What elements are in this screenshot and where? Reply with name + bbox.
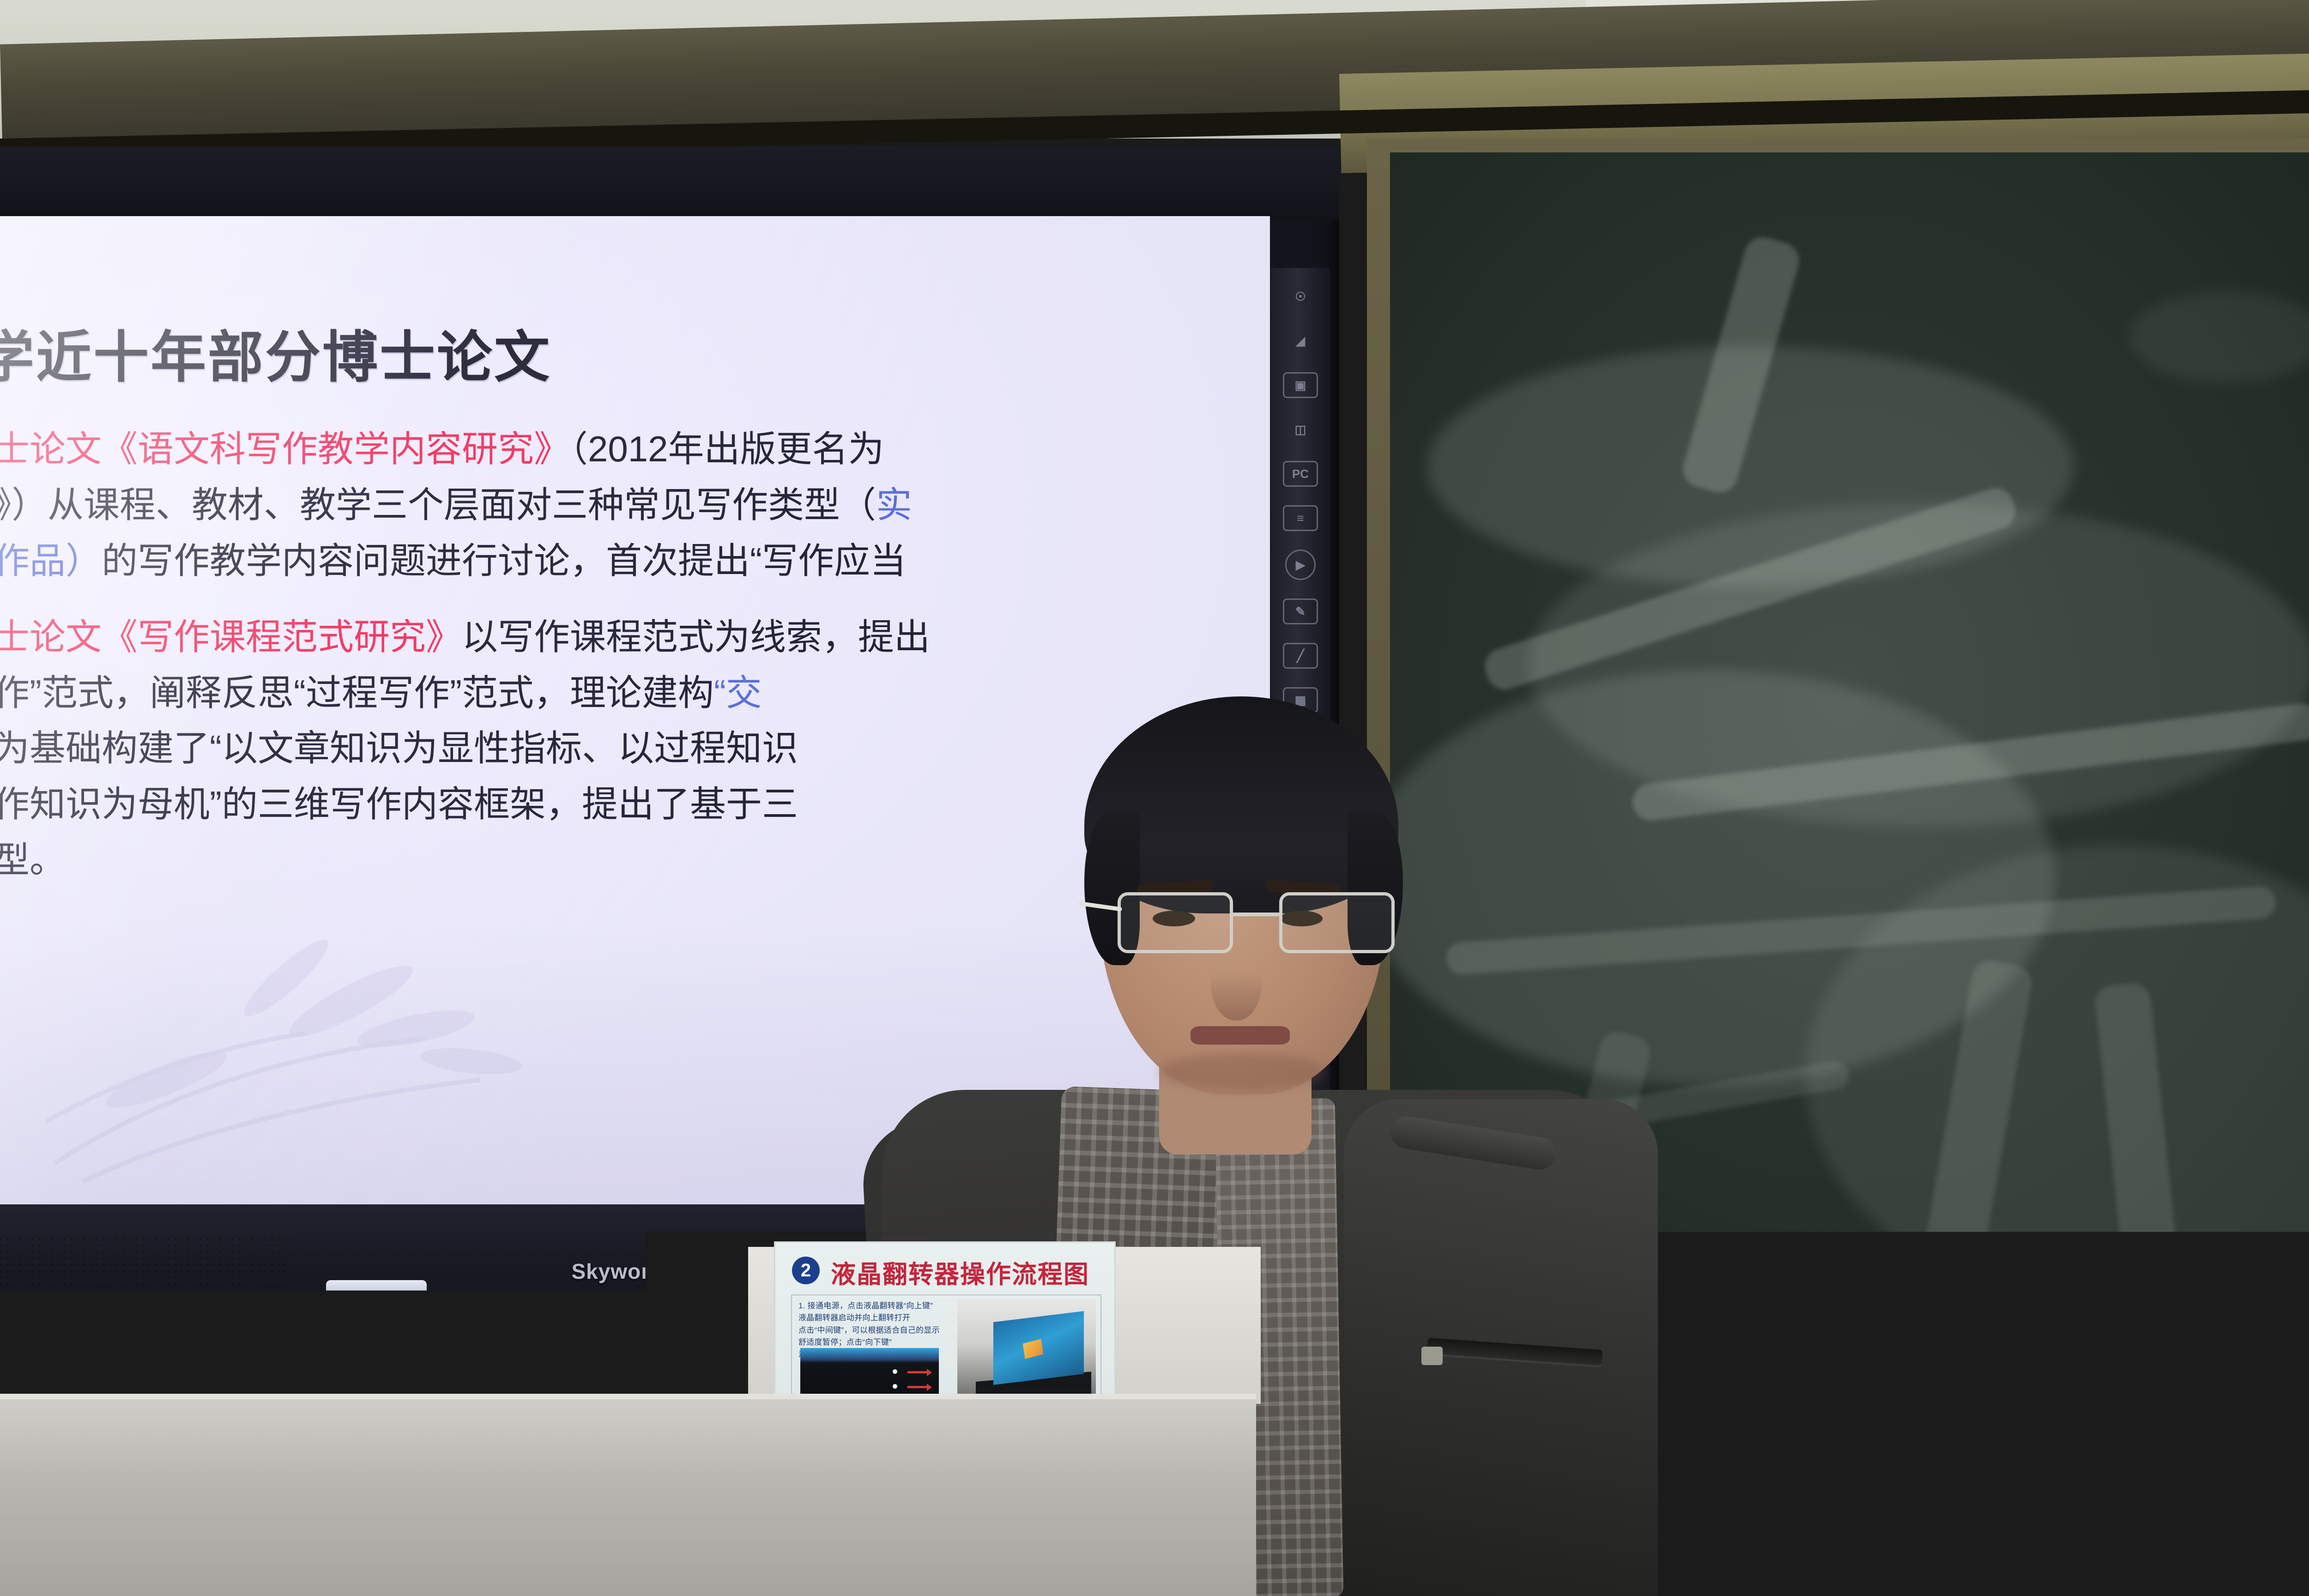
nose [1211,942,1262,1021]
slide-paragraph-1: 明博士论文《语文科写作教学内容研究》（2012年出版更名为 新论》）从课程、教材… [0,421,1242,589]
menu-icon[interactable]: ≡ [1283,505,1318,531]
slide-line: 文学作品）的写作教学内容问题进行讨论，首次提出“写作应当 [0,533,1242,589]
chalk-eraser[interactable] [416,1351,520,1393]
operation-placard[interactable]: 2 液晶翻转器操作流程图 1. 接通电源，点击液晶翻转器“向上键” 液晶翻转器启… [774,1241,1116,1408]
bamboo-watermark [28,863,674,1186]
lens-right [1279,892,1395,953]
wall-pillar [1953,1436,2064,1596]
chin-shadow [1159,1053,1325,1090]
arrow-down-callout-icon [907,1386,928,1388]
placard-body: 1. 接通电源，点击液晶翻转器“向上键” 液晶翻转器启动并向上翻转打开 点击“中… [791,1294,1101,1402]
mouse-icon[interactable]: ☉ [1283,284,1318,309]
jar-lid[interactable] [326,1280,427,1301]
slide-line: 新论》）从课程、教材、教学三个层面对三种常见写作类型（实 [0,477,1242,533]
slide-line: 明博士论文《语文科写作教学内容研究》（2012年出版更名为 [0,421,1242,477]
placard-title: 液晶翻转器操作流程图 [831,1254,1108,1290]
eyeglasses [1118,892,1395,961]
video-icon[interactable]: ▶ [1285,550,1316,580]
podium-front[interactable] [0,1399,1256,1596]
classroom-scene: 教学近十年部分博士论文 明博士论文《语文科写作教学内容研究》（2012年出版更名… [0,0,2309,1596]
slide-line: 东博士论文《写作课程范式研究》以写作课程范式为线索，提出 [0,609,1242,665]
screen-icon[interactable]: ▣ [1283,372,1318,398]
placard-photo-controls [800,1348,939,1398]
zipper-pull-icon [1421,1347,1443,1365]
mouth [1191,1026,1290,1045]
line-icon[interactable]: ╱ [1283,643,1318,669]
display-top-bezel [0,147,1339,221]
eraser-icon[interactable]: ◢ [1283,328,1318,354]
arrow-up-callout-icon [907,1371,928,1373]
pen-icon[interactable]: ✎ [1283,598,1318,624]
glasses-bridge [1232,913,1281,916]
pc-icon[interactable]: PC [1283,461,1318,487]
lens-left [1118,892,1233,953]
placard-number-badge: 2 [792,1257,820,1284]
placard-photo-monitor [957,1299,1096,1399]
control-dot-up [893,1369,897,1374]
control-dot-down [893,1384,897,1389]
glass-jar[interactable] [332,1288,422,1404]
keyboard-icon[interactable]: ◫ [1283,417,1318,442]
slide-title: 教学近十年部分博士论文 [0,327,1242,388]
